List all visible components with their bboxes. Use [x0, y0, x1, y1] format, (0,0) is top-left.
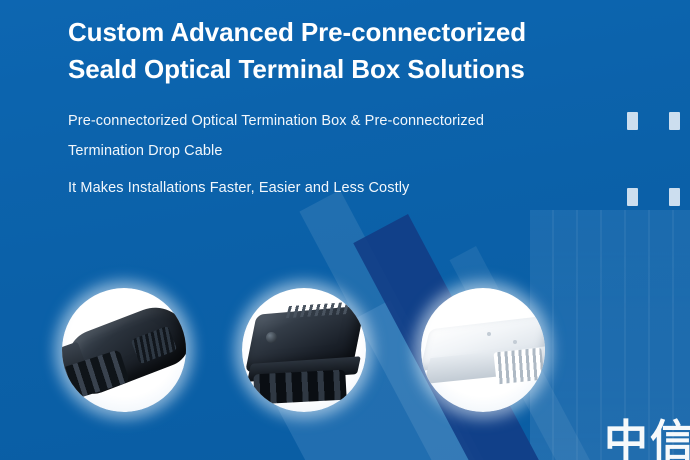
subtitle-line-3: It Makes Installations Faster, Easier an…: [68, 166, 628, 203]
product-image-white-terminal-box: [421, 288, 545, 412]
white-box-screw: [487, 332, 491, 336]
headline-line-2: Seald Optical Terminal Box Solutions: [68, 54, 525, 84]
terminal-box-fins: [275, 314, 337, 364]
subtitle-block: Pre-connectorized Optical Termination Bo…: [68, 88, 628, 203]
product-image-ribbed-terminal-box: [242, 288, 366, 412]
subtitle-line-2: Termination Drop Cable: [68, 136, 628, 166]
terminal-box-ports: [253, 370, 346, 405]
product-image-clip: [62, 288, 186, 412]
page-title: Custom Advanced Pre-connectorized Seald …: [68, 14, 628, 88]
product-image-clip: [421, 288, 545, 412]
promotional-banner: 中信 Custom Advanced Pre-connectorized Sea…: [0, 0, 690, 460]
headline-line-1: Custom Advanced Pre-connectorized: [68, 17, 526, 47]
white-box-ports: [424, 351, 497, 391]
brand-watermark-cn: 中信: [604, 420, 690, 460]
white-box-screw: [513, 340, 517, 344]
product-image-clip: [242, 288, 366, 412]
building-window-icon: [669, 112, 680, 130]
white-box-fins: [493, 348, 544, 385]
product-image-splice-closure: [62, 288, 186, 412]
terminal-box-latch: [266, 332, 277, 343]
building-window-icon: [627, 188, 638, 206]
copy-block: Custom Advanced Pre-connectorized Seald …: [68, 14, 628, 203]
subtitle-line-1: Pre-connectorized Optical Termination Bo…: [68, 106, 628, 136]
building-window-icon: [627, 112, 638, 130]
building-window-icon: [669, 188, 680, 206]
